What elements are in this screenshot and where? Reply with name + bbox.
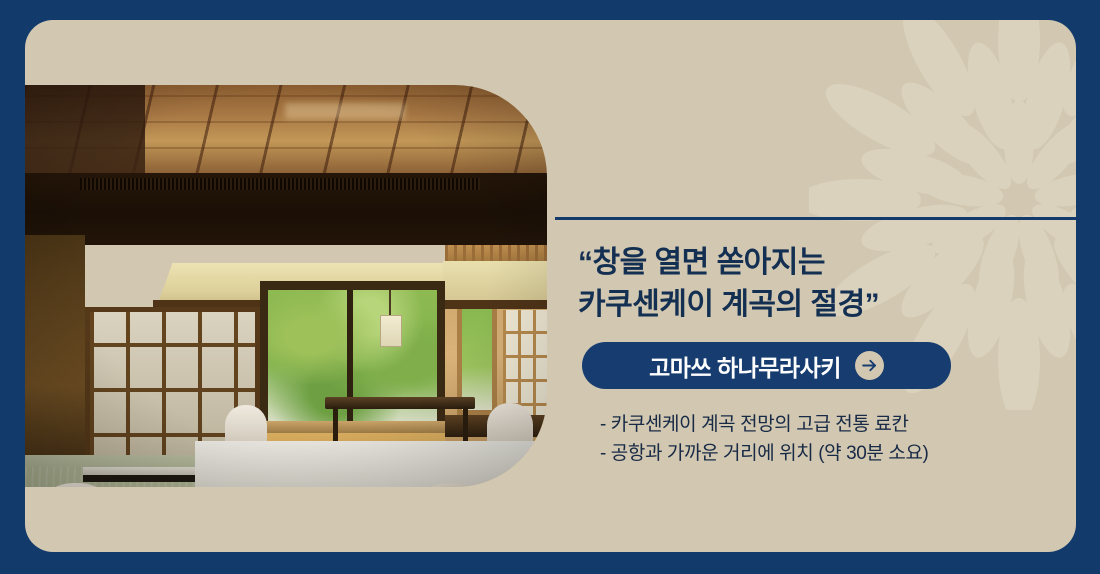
- section-divider: [555, 217, 1076, 220]
- cta-button-label: 고마쓰 하나무라사키: [649, 349, 841, 383]
- ryokan-room-photo: [25, 85, 547, 487]
- arrow-right-icon: [855, 351, 884, 380]
- promo-banner: “창을 열면 쏟아지는 카쿠센케이 계곡의 절경” 고마쓰 하나무라사키 - 카…: [0, 0, 1100, 574]
- feature-list: - 카쿠센케이 계곡 전망의 고급 전통 료칸 - 공항과 가까운 거리에 위치…: [600, 410, 1060, 468]
- list-item: - 공항과 가까운 거리에 위치 (약 30분 소요): [600, 439, 1060, 468]
- list-item: - 카쿠센케이 계곡 전망의 고급 전통 료칸: [600, 410, 1060, 439]
- headline: “창을 열면 쏟아지는 카쿠센케이 계곡의 절경”: [578, 242, 1048, 326]
- content-card: “창을 열면 쏟아지는 카쿠센케이 계곡의 절경” 고마쓰 하나무라사키 - 카…: [25, 20, 1076, 552]
- cta-button[interactable]: 고마쓰 하나무라사키: [582, 342, 951, 389]
